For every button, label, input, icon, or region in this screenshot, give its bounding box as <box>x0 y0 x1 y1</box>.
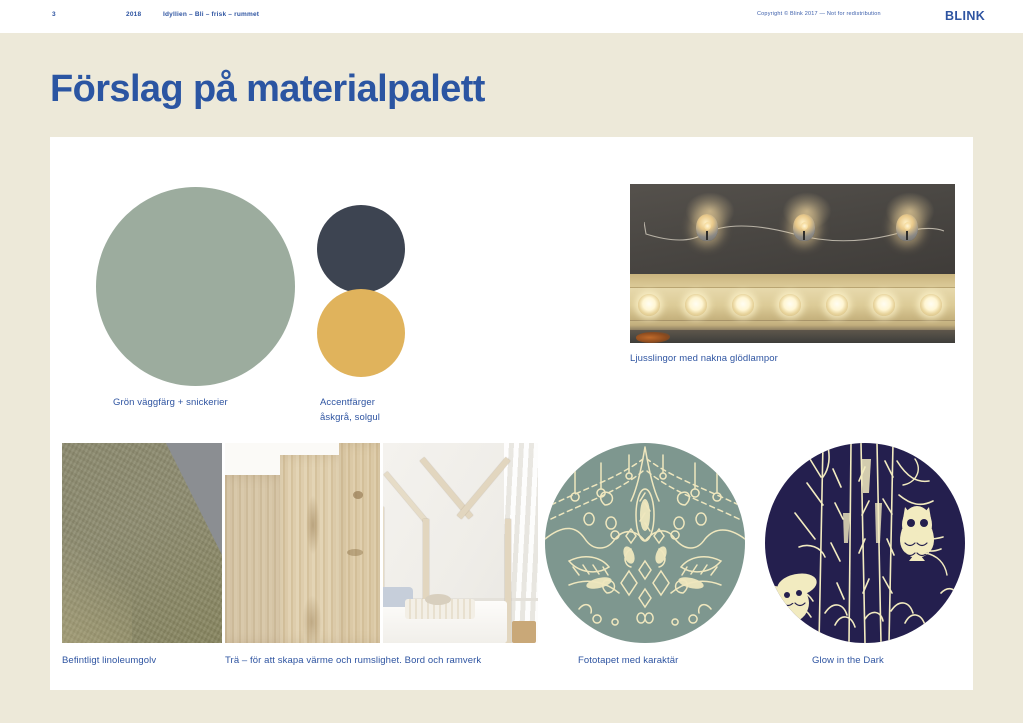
image-wood-samples <box>225 443 380 643</box>
image-house-bed <box>383 443 538 643</box>
mirror-frame <box>630 287 955 321</box>
wood-plank-2 <box>280 455 342 643</box>
mirror-bulb-5 <box>826 294 848 316</box>
mirror-bulb-4 <box>779 294 801 316</box>
mirror-bulb-1 <box>638 294 660 316</box>
content-card: Grön väggfärg + snickerier Accentfärger … <box>50 137 973 690</box>
caption-glow-wallpaper: Glow in the Dark <box>812 653 884 668</box>
copyright-notice: Copyright © Blink 2017 — Not for redistr… <box>757 11 881 17</box>
wood-knot-1 <box>306 495 320 555</box>
page-title: Förslag på materialpalett <box>50 68 485 111</box>
mirror-bulb-2 <box>685 294 707 316</box>
soft-toy <box>425 594 451 605</box>
wood-knot-2 <box>302 595 322 643</box>
mirror-bulb-3 <box>732 294 754 316</box>
caption-string-lights: Ljusslingor med nakna glödlampor <box>630 351 778 366</box>
slide-canvas: 3 2018 Idyllien – Bli – frisk – rummet C… <box>0 0 1023 723</box>
wood-plank-1 <box>225 475 283 643</box>
wallpaper-pattern-forest <box>765 443 965 643</box>
wood-knot-4 <box>347 549 363 556</box>
bulb-2 <box>793 214 815 241</box>
mirror-bulb-6 <box>873 294 895 316</box>
swatch-green-wall-paint <box>96 187 295 386</box>
year-label: 2018 <box>126 11 141 18</box>
wooden-floor-corner <box>512 621 536 643</box>
caption-wood-samples: Trä – för att skapa värme och rumslighet… <box>225 653 481 668</box>
wood-plank-3 <box>339 443 380 643</box>
caption-green-wall-paint: Grön väggfärg + snickerier <box>113 395 228 410</box>
blink-logo: BLINK <box>945 9 985 23</box>
swatch-accent-charcoal <box>317 205 405 293</box>
slide-topbar: 3 2018 Idyllien – Bli – frisk – rummet C… <box>0 0 1023 33</box>
mirror-bulb-strip <box>630 274 955 343</box>
image-glow-in-the-dark-wallpaper <box>765 443 965 643</box>
project-title: Idyllien – Bli – frisk – rummet <box>163 11 259 18</box>
caption-green-wallpaper: Fototapet med karaktär <box>578 653 678 668</box>
image-string-lights <box>630 184 955 343</box>
bed-frame-roof-right <box>457 457 510 519</box>
bulb-3 <box>896 214 918 241</box>
string-lights-wall <box>630 184 955 274</box>
caption-accent-colors: Accentfärger åskgrå, solgul <box>320 395 380 425</box>
bed-frame-far-roof <box>384 471 429 523</box>
mirror-shelf <box>630 330 955 343</box>
swatch-accent-gold <box>317 289 405 377</box>
bulb-1 <box>696 214 718 241</box>
wood-knot-3 <box>353 491 363 499</box>
image-linoleum-floor <box>62 443 222 643</box>
mirror-bulb-7 <box>920 294 942 316</box>
image-green-wallpaper <box>545 443 745 643</box>
linoleum-sheen <box>62 533 132 643</box>
caption-linoleum-floor: Befintligt linoleumgolv <box>62 653 156 668</box>
wallpaper-pattern-green <box>545 443 745 643</box>
page-number: 3 <box>52 11 56 18</box>
